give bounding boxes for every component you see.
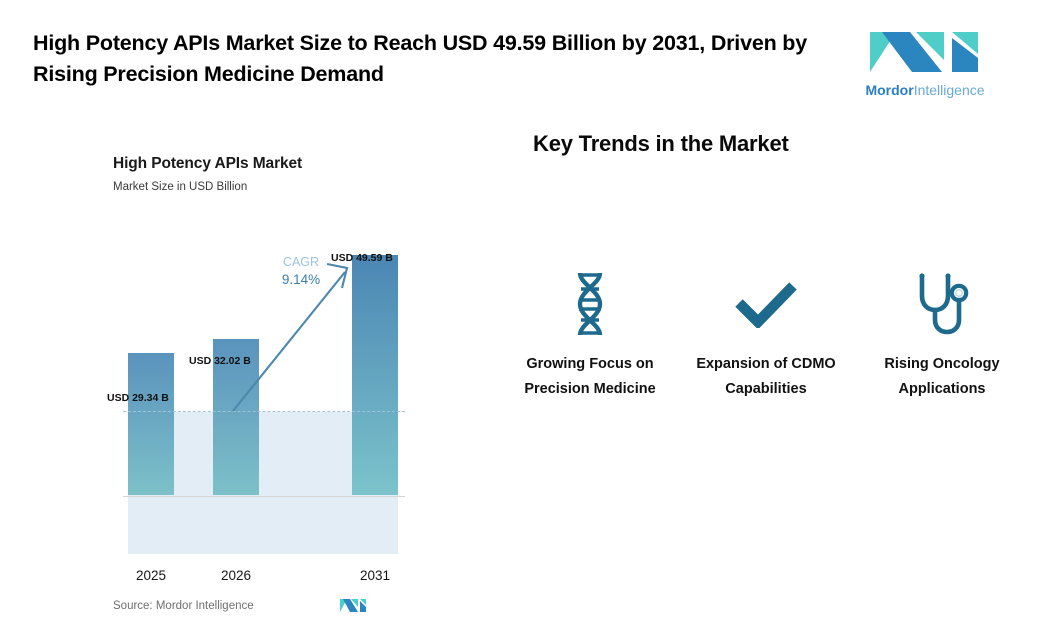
x-axis-line (123, 496, 405, 498)
bar-2025 (128, 353, 174, 495)
brand-name-light: Intelligence (914, 82, 985, 98)
trend-item-oncology-applications: Rising Oncology Applications (862, 268, 1022, 402)
x-axis-tick-labels: 2025 2026 2031 (113, 568, 405, 588)
chart-footer: Source: Mordor Intelligence (113, 598, 405, 620)
trend-item-precision-medicine: Growing Focus on Precision Medicine (510, 268, 670, 402)
mordor-intelligence-logo-icon (866, 28, 984, 76)
stethoscope-icon (914, 268, 970, 340)
growth-arrow-icon (229, 260, 359, 415)
page-title: High Potency APIs Market Size to Reach U… (33, 28, 833, 90)
brand-wordmark: MordorIntelligence (855, 80, 995, 100)
trend-label-precision-medicine: Growing Focus on Precision Medicine (510, 352, 670, 402)
bar-value-label-2025: USD 29.34 B (107, 392, 169, 404)
key-trends-title: Key Trends in the Market (533, 131, 789, 157)
trend-label-cdmo-capabilities: Expansion of CDMO Capabilities (686, 352, 846, 402)
x-tick-2025: 2025 (121, 568, 181, 583)
x-tick-2026: 2026 (206, 568, 266, 583)
checkmark-icon (735, 268, 797, 340)
trend-label-oncology-applications: Rising Oncology Applications (862, 352, 1022, 402)
market-size-chart: High Potency APIs Market Market Size in … (113, 155, 413, 545)
source-attribution: Source: Mordor Intelligence (113, 600, 254, 612)
mordor-intelligence-mark-icon (339, 598, 367, 614)
source-label: Source: (113, 600, 153, 612)
dna-helix-icon (568, 268, 612, 340)
source-name: Mordor Intelligence (156, 600, 254, 612)
chart-title: High Potency APIs Market (113, 155, 413, 173)
brand-logo: MordorIntelligence (855, 28, 995, 106)
brand-name-bold: Mordor (865, 82, 913, 98)
chart-subtitle: Market Size in USD Billion (113, 181, 413, 193)
key-trends-list: Growing Focus on Precision Medicine Expa… (510, 268, 1022, 402)
chart-plot-area: USD 29.34 B USD 32.02 B USD 49.59 B CAGR… (113, 220, 405, 495)
trend-item-cdmo-capabilities: Expansion of CDMO Capabilities (686, 268, 846, 402)
x-tick-2031: 2031 (345, 568, 405, 583)
